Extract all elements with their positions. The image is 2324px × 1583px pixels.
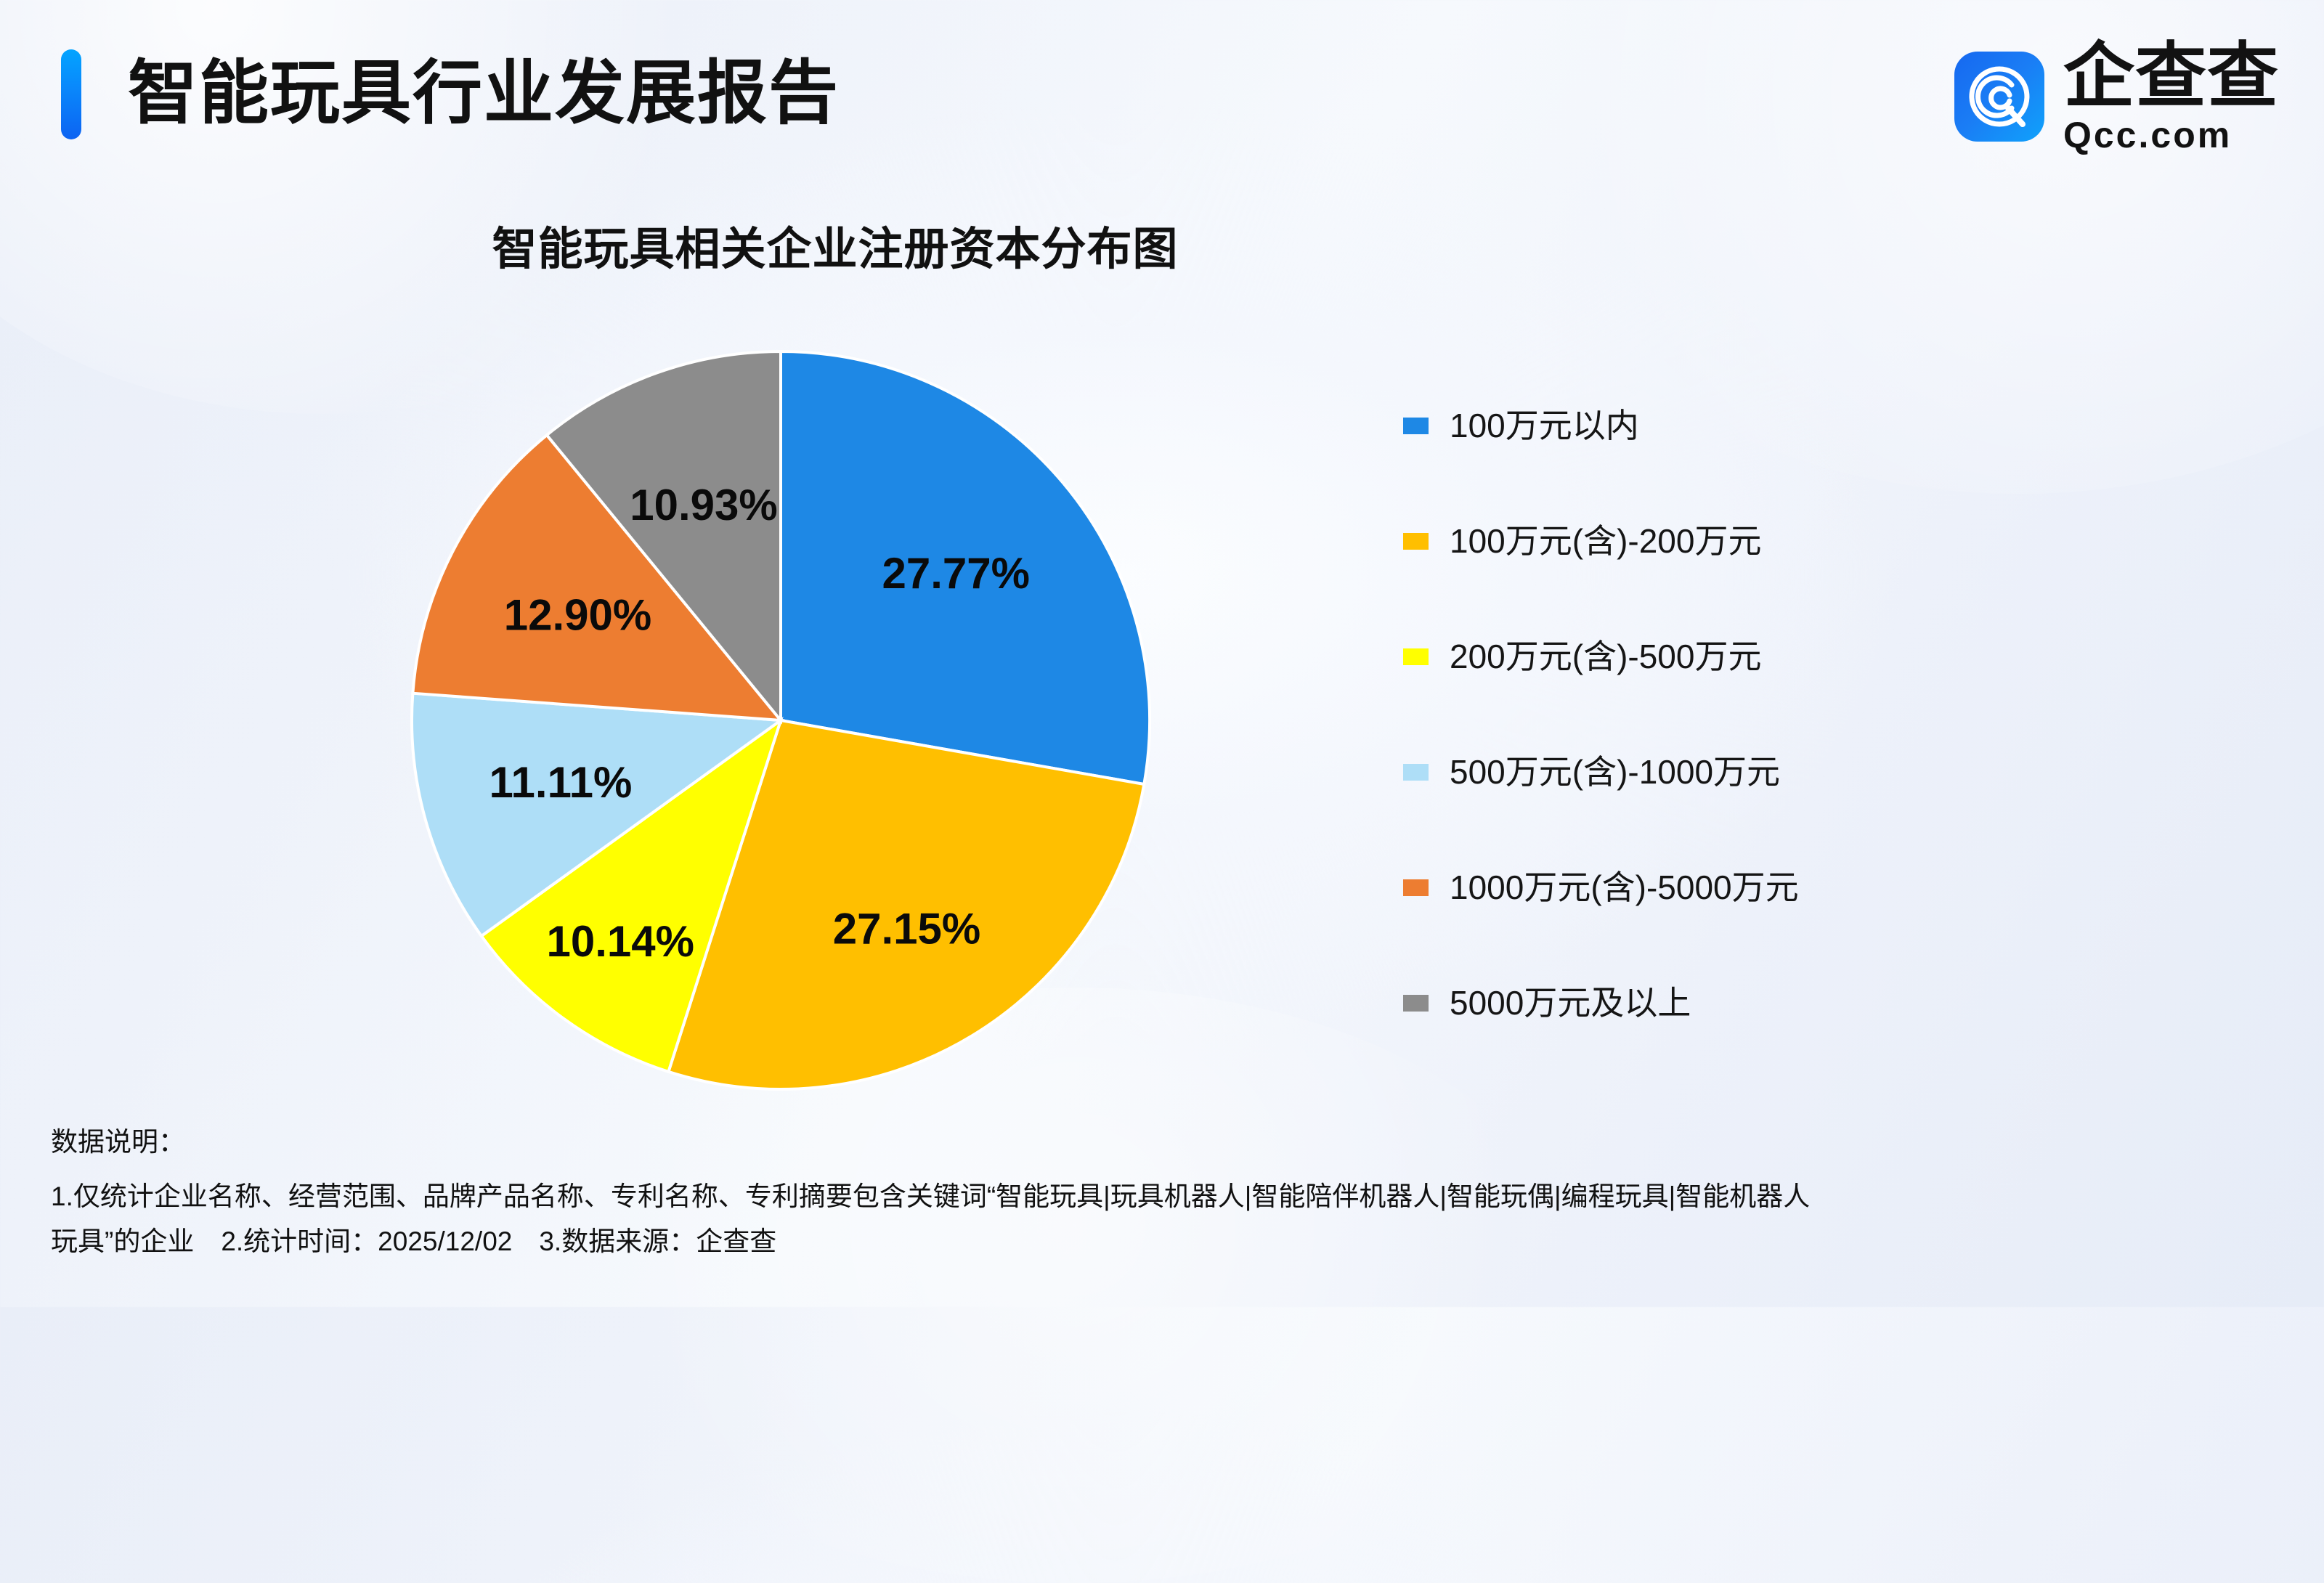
chart-legend: 100万元以内100万元(含)-200万元200万元(含)-500万元500万元… (1403, 404, 2202, 1025)
legend-item[interactable]: 200万元(含)-500万元 (1403, 635, 2202, 678)
chart-title: 智能玩具相关企业注册资本分布图 (0, 212, 1670, 277)
legend-label: 100万元以内 (1450, 404, 1639, 447)
legend-swatch (1403, 533, 1429, 550)
qcc-logo-cn: 企查查 (2063, 38, 2279, 113)
footer-note-1: 1.仅统计企业名称、经营范围、品牌产品名称、专利名称、专利摘要包含关键词“智能玩… (51, 1174, 2280, 1219)
legend-swatch (1403, 648, 1429, 665)
legend-label: 1000万元(含)-5000万元 (1450, 866, 1799, 909)
pie-slice-label: 12.90% (504, 590, 652, 639)
legend-swatch (1403, 418, 1429, 434)
legend-label: 500万元(含)-1000万元 (1450, 750, 1780, 794)
pie-chart-svg: 27.77%27.15%10.14%11.11%12.90%10.93% (410, 350, 1151, 1091)
legend-item[interactable]: 500万元(含)-1000万元 (1403, 750, 2202, 794)
footer-note-2: 玩具”的企业 2.统计时间：2025/12/02 3.数据来源：企查查 (51, 1219, 2280, 1264)
qcc-logo-text: 企查查 Qcc.com (2063, 38, 2279, 155)
legend-item[interactable]: 100万元(含)-200万元 (1403, 519, 2202, 563)
qcc-logo: 企查查 Qcc.com (1954, 38, 2279, 155)
qcc-logo-en: Qcc.com (2063, 115, 2279, 155)
legend-item[interactable]: 1000万元(含)-5000万元 (1403, 866, 2202, 909)
legend-item[interactable]: 100万元以内 (1403, 404, 2202, 447)
legend-label: 100万元(含)-200万元 (1450, 519, 1761, 563)
footer-heading: 数据说明： (51, 1122, 2280, 1163)
legend-label: 5000万元及以上 (1450, 981, 1691, 1025)
pie-slice-label: 27.15% (833, 904, 981, 953)
pie-slice-label: 11.11% (489, 758, 632, 807)
legend-swatch (1403, 879, 1429, 896)
page-header: 智能玩具行业发展报告 企查查 Qcc.com (0, 0, 2324, 182)
page-title: 智能玩具行业发展报告 (128, 45, 840, 142)
pie-chart: 27.77%27.15%10.14%11.11%12.90%10.93% (410, 350, 1151, 1091)
footer-notes: 数据说明： 1.仅统计企业名称、经营范围、品牌产品名称、专利名称、专利摘要包含关… (51, 1122, 2280, 1264)
pie-slice-label: 27.77% (882, 549, 1030, 598)
title-accent-bar (61, 49, 81, 139)
legend-item[interactable]: 5000万元及以上 (1403, 981, 2202, 1025)
qcc-q-spiral-icon (1954, 52, 2044, 142)
legend-label: 200万元(含)-500万元 (1450, 635, 1761, 678)
pie-slice-label: 10.93% (630, 481, 778, 529)
legend-swatch (1403, 995, 1429, 1012)
legend-swatch (1403, 764, 1429, 781)
pie-slice-label: 10.14% (546, 917, 694, 966)
